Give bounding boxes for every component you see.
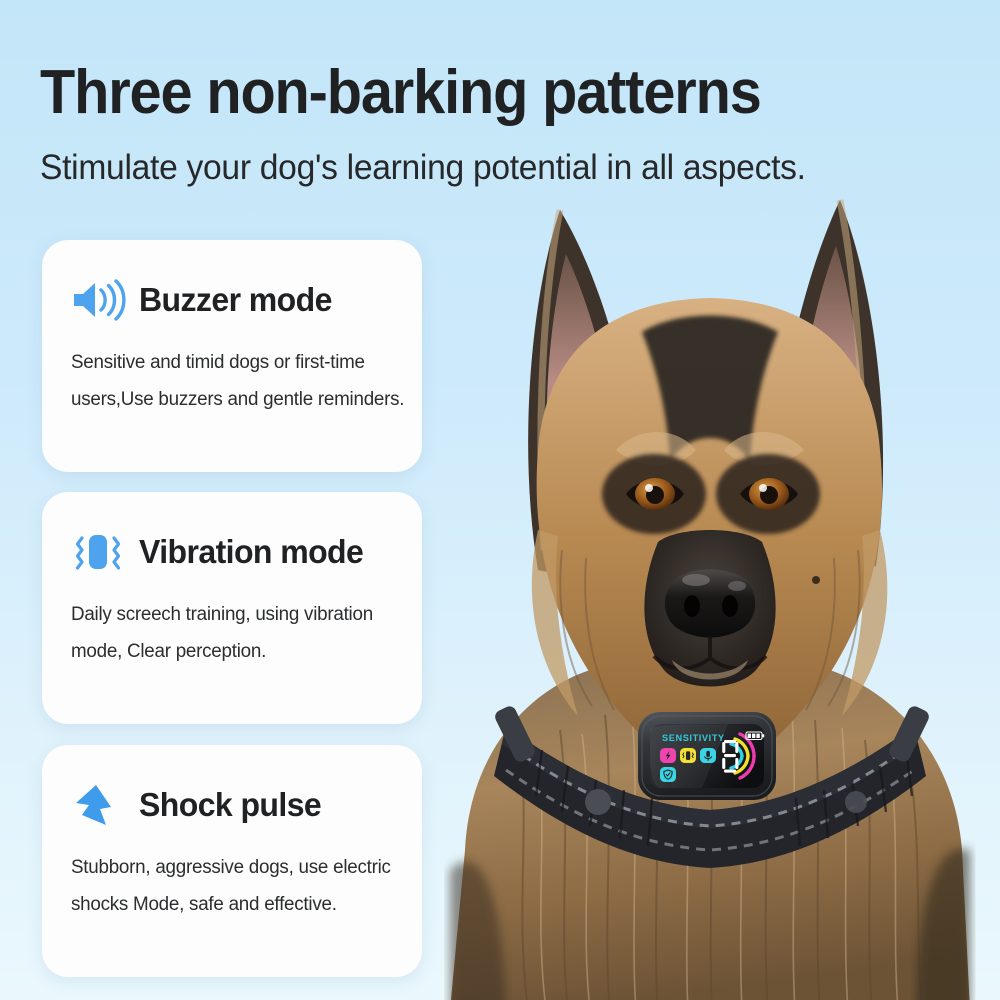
vibration-icon [70, 529, 126, 575]
card-header: Shock pulse [70, 777, 408, 833]
card-description: Sensitive and timid dogs or first-time u… [71, 344, 404, 418]
bark-collar-device[interactable]: SENSITIVITY [636, 708, 778, 804]
page-subheadline: Stimulate your dog's learning potential … [40, 148, 942, 188]
feature-card-vibration[interactable]: Vibration mode Daily screech training, u… [42, 492, 422, 724]
lightning-bolt-icon [70, 782, 126, 828]
card-title: Shock pulse [139, 786, 321, 824]
page-headline: Three non-barking patterns [40, 62, 896, 124]
card-description: Stubborn, aggressive dogs, use electric … [71, 849, 404, 923]
card-title: Buzzer mode [139, 281, 332, 319]
card-title: Vibration mode [139, 533, 363, 571]
card-description-line2: mode, Clear perception. [71, 633, 401, 670]
feature-card-shock[interactable]: Shock pulse Stubborn, aggressive dogs, u… [42, 745, 422, 977]
card-description-line1: Stubborn, aggressive dogs, use electric [71, 849, 401, 886]
german-shepherd-photo [410, 150, 1000, 1000]
card-description: Daily screech training, using vibration … [71, 596, 404, 670]
card-description-line2: users,Use buzzers and gentle reminders. [71, 381, 401, 418]
dog-nose [665, 570, 755, 638]
card-description-line1: Daily screech training, using vibration [71, 596, 401, 633]
card-header: Buzzer mode [70, 272, 408, 328]
card-description-line2: shocks Mode, safe and effective. [71, 886, 401, 923]
card-description-line1: Sensitive and timid dogs or first-time [71, 344, 401, 381]
feature-card-buzzer[interactable]: Buzzer mode Sensitive and timid dogs or … [42, 240, 422, 472]
card-header: Vibration mode [70, 524, 408, 580]
speaker-sound-icon [70, 277, 126, 323]
infographic-canvas: SENSITIVITY [0, 0, 1000, 1000]
